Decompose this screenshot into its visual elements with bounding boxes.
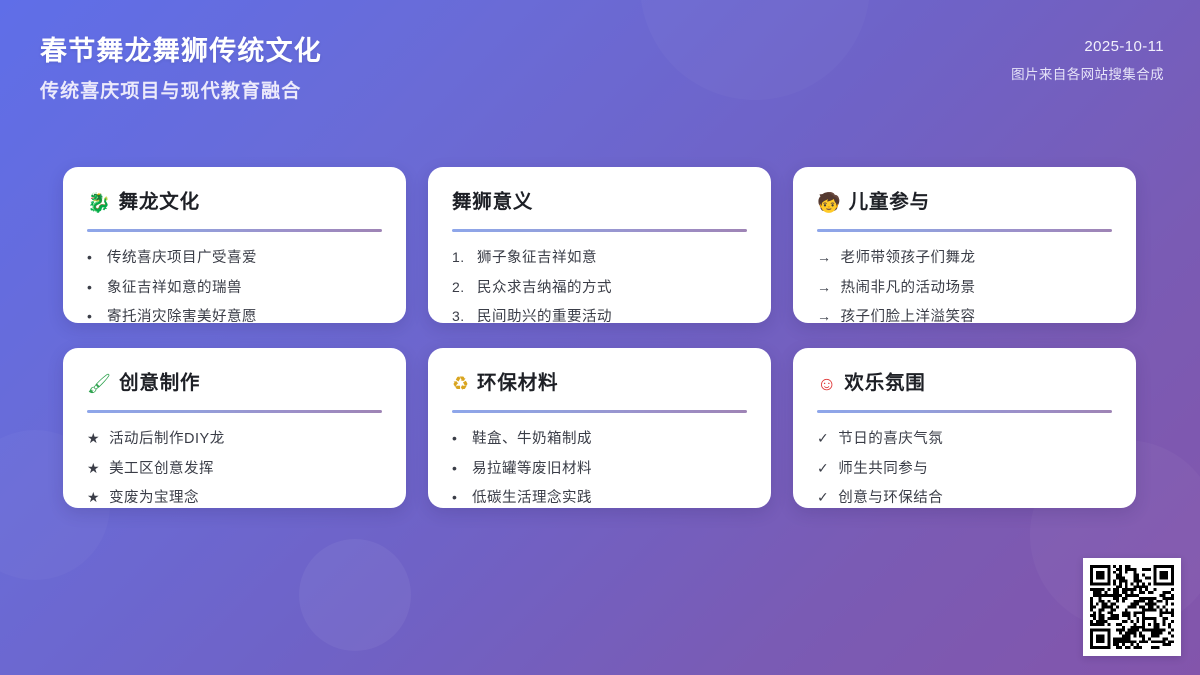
list-item: 1.狮子象征吉祥如意 (452, 248, 747, 269)
list-item-text: 孩子们脸上洋溢笑容 (841, 308, 1113, 323)
list-item-text: 传统喜庆项目广受喜爱 (107, 249, 382, 269)
info-card: 🧒儿童参与→老师带领孩子们舞龙→热闹非凡的活动场景→孩子们脸上洋溢笑容 (793, 167, 1136, 323)
card-title: 创意制作 (119, 372, 200, 395)
info-card: 舞狮意义1.狮子象征吉祥如意2.民众求吉纳福的方式3.民间助兴的重要活动 (428, 167, 771, 323)
card-header: 舞狮意义 (452, 188, 747, 218)
card-grid: 🐉舞龙文化•传统喜庆项目广受喜爱•象征吉祥如意的瑞兽•寄托消灾除害美好意愿舞狮意… (63, 167, 1138, 508)
list-marker-check: ✓ (817, 459, 829, 478)
list-marker-check: ✓ (817, 429, 829, 448)
card-header: 🖌创意制作 (87, 369, 382, 399)
child-icon: 🧒 (817, 194, 841, 213)
header-date: 2025-10-11 (1084, 38, 1164, 55)
info-card: ☺欢乐氛围✓节日的喜庆气氛✓师生共同参与✓创意与环保结合 (793, 348, 1136, 508)
list-item-text: 节日的喜庆气氛 (838, 430, 1112, 450)
card-title: 欢乐氛围 (844, 372, 925, 395)
list-item: •象征吉祥如意的瑞兽 (87, 278, 382, 299)
list-marker-number: 3. (452, 307, 468, 323)
card-header: 🧒儿童参与 (817, 188, 1112, 218)
list-item-text: 民众求吉纳福的方式 (477, 279, 747, 299)
card-list: •鞋盒、牛奶箱制成•易拉罐等废旧材料•低碳生活理念实践 (452, 429, 747, 508)
list-marker-bullet: • (452, 459, 463, 478)
card-title: 环保材料 (477, 372, 558, 395)
list-item-text: 鞋盒、牛奶箱制成 (472, 430, 747, 450)
list-marker-bullet: • (87, 248, 98, 267)
header-source-note: 图片来自各网站搜集合成 (1011, 63, 1164, 83)
list-item: •鞋盒、牛奶箱制成 (452, 429, 747, 450)
list-marker-star: ★ (87, 459, 100, 478)
list-marker-arrow: → (817, 307, 832, 323)
list-marker-star: ★ (87, 429, 100, 448)
slide-header: 春节舞龙舞狮传统文化 传统喜庆项目与现代教育融合 2025-10-11 图片来自… (0, 0, 1200, 140)
list-item: ✓创意与环保结合 (817, 488, 1112, 508)
card-list: 1.狮子象征吉祥如意2.民众求吉纳福的方式3.民间助兴的重要活动 (452, 248, 747, 323)
card-list: →老师带领孩子们舞龙→热闹非凡的活动场景→孩子们脸上洋溢笑容 (817, 248, 1112, 323)
card-list: ✓节日的喜庆气氛✓师生共同参与✓创意与环保结合 (817, 429, 1112, 508)
list-item: →老师带领孩子们舞龙 (817, 248, 1112, 269)
card-divider (817, 229, 1112, 232)
list-item: •传统喜庆项目广受喜爱 (87, 248, 382, 269)
list-item: 2.民众求吉纳福的方式 (452, 278, 747, 299)
card-header: 🐉舞龙文化 (87, 188, 382, 218)
list-item: →热闹非凡的活动场景 (817, 278, 1112, 299)
list-item-text: 易拉罐等废旧材料 (472, 460, 747, 480)
list-item-text: 狮子象征吉祥如意 (477, 249, 747, 269)
list-item: ★美工区创意发挥 (87, 459, 382, 480)
card-title: 儿童参与 (849, 191, 930, 214)
card-divider (452, 229, 747, 232)
dragon-icon: 🐉 (87, 194, 111, 213)
list-item-text: 创意与环保结合 (838, 489, 1112, 508)
list-marker-arrow: → (817, 248, 832, 267)
slide-canvas: 春节舞龙舞狮传统文化 传统喜庆项目与现代教育融合 2025-10-11 图片来自… (0, 0, 1200, 675)
list-item: ✓节日的喜庆气氛 (817, 429, 1112, 450)
list-item-text: 低碳生活理念实践 (472, 489, 747, 508)
list-marker-star: ★ (87, 488, 100, 507)
card-divider (817, 410, 1112, 413)
list-marker-bullet: • (452, 488, 463, 507)
card-divider (452, 410, 747, 413)
page-title: 春节舞龙舞狮传统文化 (40, 34, 322, 69)
decor-circle-1 (299, 539, 411, 651)
paintbrush-icon: 🖌 (87, 375, 111, 394)
list-marker-number: 2. (452, 278, 468, 297)
list-marker-check: ✓ (817, 488, 829, 507)
list-marker-arrow: → (817, 278, 832, 297)
list-item: 3.民间助兴的重要活动 (452, 307, 747, 323)
smiley-face-icon: ☺ (817, 375, 836, 394)
header-right-group: 2025-10-11 图片来自各网站搜集合成 (1011, 34, 1164, 83)
list-item: ★变废为宝理念 (87, 488, 382, 508)
list-item: •低碳生活理念实践 (452, 488, 747, 508)
list-item-text: 变废为宝理念 (109, 489, 382, 508)
qr-code[interactable] (1083, 558, 1181, 656)
list-marker-bullet: • (87, 278, 98, 297)
list-item-text: 民间助兴的重要活动 (477, 308, 747, 323)
list-item-text: 热闹非凡的活动场景 (841, 279, 1113, 299)
list-item-text: 美工区创意发挥 (109, 460, 382, 480)
card-list: •传统喜庆项目广受喜爱•象征吉祥如意的瑞兽•寄托消灾除害美好意愿 (87, 248, 382, 323)
list-item-text: 老师带领孩子们舞龙 (841, 249, 1113, 269)
qr-code-image (1090, 565, 1174, 649)
list-item: •易拉罐等废旧材料 (452, 459, 747, 480)
page-subtitle: 传统喜庆项目与现代教育融合 (40, 80, 322, 105)
card-title: 舞狮意义 (452, 191, 533, 214)
list-marker-bullet: • (452, 429, 463, 448)
card-divider (87, 410, 382, 413)
list-marker-number: 1. (452, 248, 468, 267)
card-header: ♻环保材料 (452, 369, 747, 399)
info-card: 🐉舞龙文化•传统喜庆项目广受喜爱•象征吉祥如意的瑞兽•寄托消灾除害美好意愿 (63, 167, 406, 323)
card-divider (87, 229, 382, 232)
list-item: ★活动后制作DIY龙 (87, 429, 382, 450)
card-title: 舞龙文化 (119, 191, 200, 214)
list-marker-bullet: • (87, 307, 98, 323)
list-item: →孩子们脸上洋溢笑容 (817, 307, 1112, 323)
list-item: •寄托消灾除害美好意愿 (87, 307, 382, 323)
header-left-group: 春节舞龙舞狮传统文化 传统喜庆项目与现代教育融合 (40, 34, 322, 105)
info-card: ♻环保材料•鞋盒、牛奶箱制成•易拉罐等废旧材料•低碳生活理念实践 (428, 348, 771, 508)
card-list: ★活动后制作DIY龙★美工区创意发挥★变废为宝理念 (87, 429, 382, 508)
list-item-text: 活动后制作DIY龙 (109, 430, 382, 450)
list-item-text: 师生共同参与 (838, 460, 1112, 480)
card-header: ☺欢乐氛围 (817, 369, 1112, 399)
list-item: ✓师生共同参与 (817, 459, 1112, 480)
list-item-text: 象征吉祥如意的瑞兽 (107, 279, 382, 299)
info-card: 🖌创意制作★活动后制作DIY龙★美工区创意发挥★变废为宝理念 (63, 348, 406, 508)
list-item-text: 寄托消灾除害美好意愿 (107, 308, 382, 323)
recycle-icon: ♻ (452, 375, 469, 394)
